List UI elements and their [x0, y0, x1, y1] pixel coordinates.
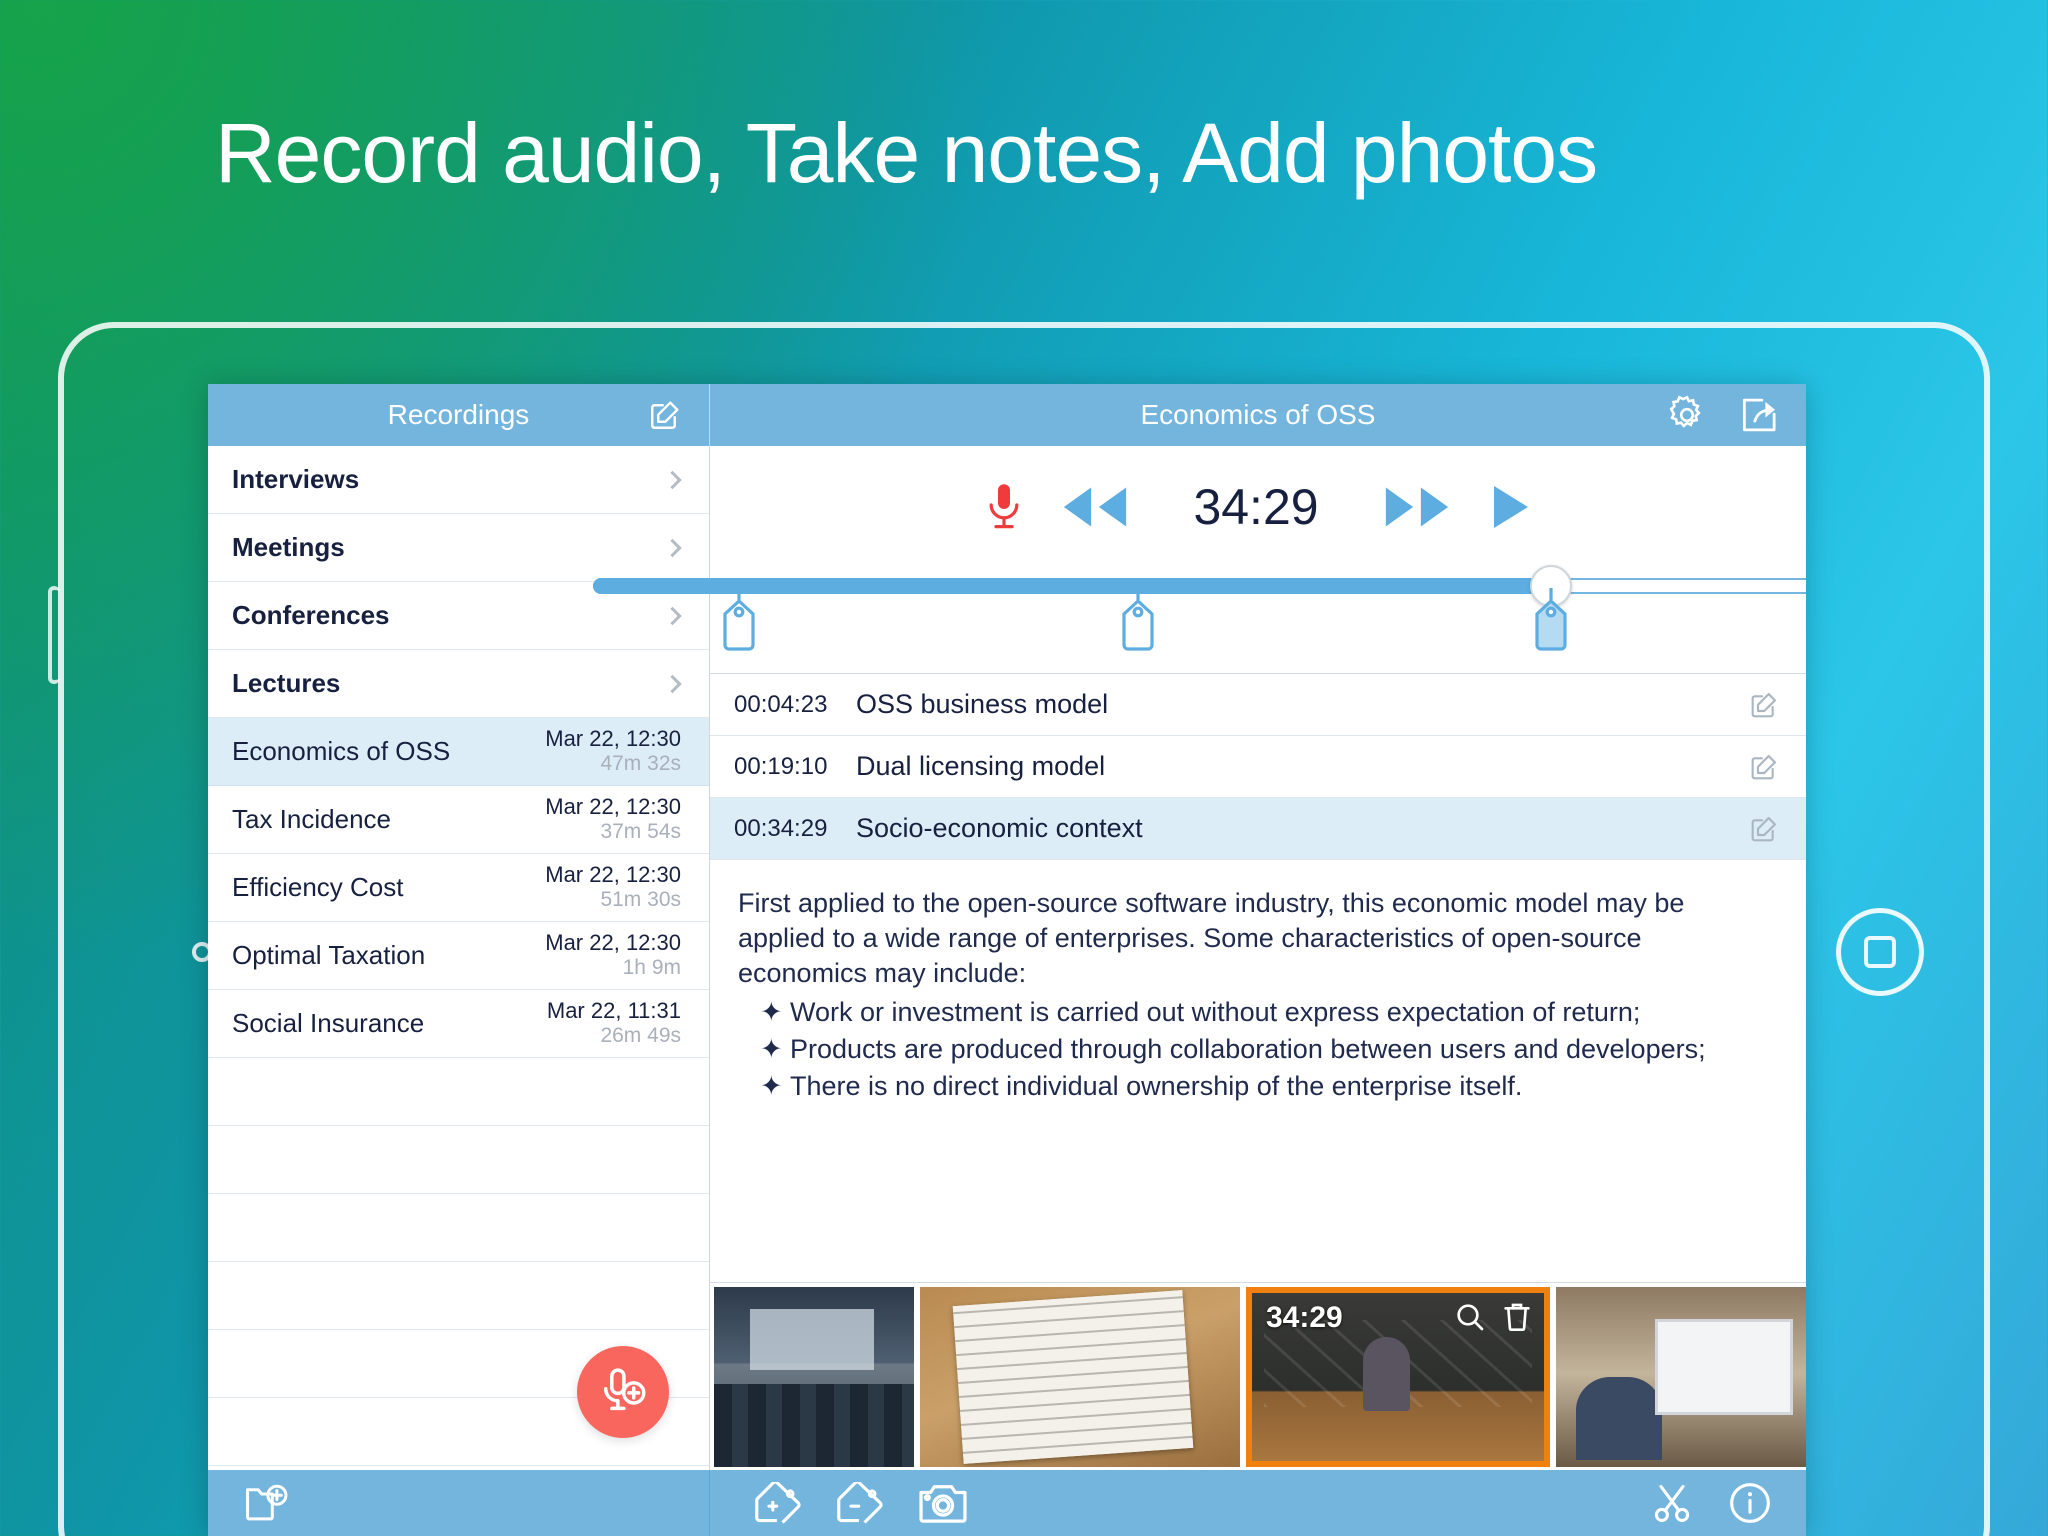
- photo-thumbnail-selected[interactable]: 34:29: [1246, 1287, 1550, 1467]
- bullet-star-icon: ✦: [760, 1069, 783, 1104]
- chevron-right-icon: [663, 470, 681, 488]
- rewind-icon[interactable]: [1060, 485, 1130, 529]
- play-icon[interactable]: [1488, 483, 1532, 531]
- recordings-title: Recordings: [388, 399, 530, 431]
- volume-button[interactable]: [48, 586, 60, 684]
- compose-edit-icon[interactable]: [647, 397, 683, 433]
- home-button[interactable]: [1836, 908, 1924, 996]
- photo-thumbnail[interactable]: [1556, 1287, 1806, 1467]
- bookmark-row-selected[interactable]: 00:34:29 Socio-economic context: [710, 798, 1806, 860]
- timeline-marker-active[interactable]: [1532, 588, 1570, 652]
- gear-icon[interactable]: [1666, 394, 1708, 436]
- note-bullet-text: Work or investment is carried out withou…: [790, 997, 1640, 1027]
- recordings-header: Recordings: [208, 384, 709, 446]
- note-bullet-text: There is no direct individual ownership …: [790, 1071, 1522, 1101]
- app-screen: Recordings Interviews Meetings: [208, 384, 1806, 1536]
- recording-duration: 1h 9m: [623, 956, 681, 979]
- note-paragraph: First applied to the open-source softwar…: [738, 886, 1778, 991]
- recording-meta: Mar 22, 12:30 37m 54s: [545, 795, 681, 843]
- bookmark-edit-icon[interactable]: [1748, 689, 1780, 721]
- bookmark-edit-icon[interactable]: [1748, 813, 1780, 845]
- new-recording-button[interactable]: [577, 1346, 669, 1438]
- share-export-icon[interactable]: [1738, 394, 1784, 436]
- folder-label: Lectures: [232, 668, 340, 699]
- bullet-star-icon: ✦: [760, 1032, 783, 1067]
- folder-label: Conferences: [232, 600, 390, 631]
- bookmark-row[interactable]: 00:19:10 Dual licensing model: [710, 736, 1806, 798]
- recording-name: Social Insurance: [232, 1008, 424, 1039]
- player-timecode: 34:29: [1166, 478, 1346, 536]
- note-bullet-item: ✦ There is no direct individual ownershi…: [790, 1069, 1778, 1104]
- microphone-record-icon[interactable]: [984, 481, 1024, 533]
- playback-timeline[interactable]: [593, 570, 1806, 673]
- recording-item[interactable]: Efficiency Cost Mar 22, 12:30 51m 30s: [208, 854, 709, 922]
- recording-date: Mar 22, 11:31: [547, 998, 681, 1023]
- note-bullet-list: ✦ Work or investment is carried out with…: [738, 995, 1778, 1104]
- note-bullet-item: ✦ Products are produced through collabor…: [790, 1032, 1778, 1067]
- recording-duration: 51m 30s: [600, 888, 681, 911]
- audio-player: 34:29: [710, 446, 1806, 674]
- chevron-right-icon: [663, 674, 681, 692]
- document-and-pen-photo: [920, 1287, 1240, 1467]
- recording-date: Mar 22, 12:30: [545, 726, 681, 751]
- right-toolbar: [710, 1470, 1806, 1536]
- detail-header-actions: [1666, 394, 1784, 436]
- magnifier-icon[interactable]: [1454, 1301, 1486, 1333]
- sidebar-item-interviews[interactable]: Interviews: [208, 446, 709, 514]
- recording-duration: 26m 49s: [600, 1024, 681, 1047]
- recordings-pane: Recordings Interviews Meetings: [208, 384, 710, 1470]
- tag-add-icon[interactable]: [754, 1482, 802, 1524]
- left-toolbar: [208, 1470, 710, 1536]
- timeline-marker[interactable]: [720, 588, 758, 652]
- recording-duration: 47m 32s: [600, 752, 681, 775]
- recording-item[interactable]: Optimal Taxation Mar 22, 12:30 1h 9m: [208, 922, 709, 990]
- home-square-icon: [1864, 936, 1896, 968]
- note-text-area[interactable]: First applied to the open-source softwar…: [710, 860, 1806, 1282]
- recording-name: Optimal Taxation: [232, 940, 425, 971]
- editing-tools-group: [754, 1482, 968, 1524]
- detail-header: Economics of OSS: [710, 384, 1806, 446]
- folder-label: Interviews: [232, 464, 359, 495]
- bookmark-time: 00:04:23: [734, 691, 840, 719]
- fast-forward-icon[interactable]: [1382, 485, 1452, 529]
- recording-date: Mar 22, 12:30: [545, 862, 681, 887]
- recording-date: Mar 22, 12:30: [545, 930, 681, 955]
- bullet-star-icon: ✦: [760, 995, 783, 1030]
- recording-item[interactable]: Economics of OSS Mar 22, 12:30 47m 32s: [208, 718, 709, 786]
- recording-meta: Mar 22, 12:30 51m 30s: [545, 863, 681, 911]
- bookmark-title: OSS business model: [856, 689, 1108, 720]
- bookmark-time: 00:19:10: [734, 753, 840, 781]
- folder-add-icon[interactable]: [244, 1483, 290, 1523]
- team-presentation-photo: [1556, 1287, 1806, 1467]
- recording-item[interactable]: Social Insurance Mar 22, 11:31 26m 49s: [208, 990, 709, 1058]
- recording-meta: Mar 22, 11:31 26m 49s: [547, 999, 681, 1047]
- microphone-add-icon: [595, 1364, 651, 1420]
- photo-timestamp: 34:29: [1266, 1301, 1343, 1335]
- photo-strip[interactable]: 34:29: [710, 1282, 1806, 1470]
- recording-meta: Mar 22, 12:30 47m 32s: [545, 727, 681, 775]
- chevron-right-icon: [663, 538, 681, 556]
- recording-name: Efficiency Cost: [232, 872, 403, 903]
- utility-tools-group: [1650, 1481, 1772, 1525]
- empty-list-row: [208, 1126, 709, 1194]
- bookmark-edit-icon[interactable]: [1748, 751, 1780, 783]
- photo-overlay-actions: [1454, 1301, 1532, 1333]
- recording-meta: Mar 22, 12:30 1h 9m: [545, 931, 681, 979]
- transport-controls: 34:29: [984, 478, 1532, 536]
- recording-duration: 37m 54s: [600, 820, 681, 843]
- note-bullet-item: ✦ Work or investment is carried out with…: [790, 995, 1778, 1030]
- note-bullet-text: Products are produced through collaborat…: [790, 1034, 1706, 1064]
- bookmark-title: Dual licensing model: [856, 751, 1105, 782]
- detail-pane: Economics of OSS: [710, 384, 1806, 1470]
- trash-icon[interactable]: [1502, 1301, 1532, 1333]
- timeline-marker[interactable]: [1119, 588, 1157, 652]
- empty-list-row: [208, 1058, 709, 1126]
- photo-thumbnail[interactable]: [714, 1287, 914, 1467]
- empty-list-row: [208, 1262, 709, 1330]
- detail-title: Economics of OSS: [1141, 399, 1376, 431]
- photo-thumbnail[interactable]: [920, 1287, 1240, 1467]
- recording-date: Mar 22, 12:30: [545, 794, 681, 819]
- empty-list-row: [208, 1194, 709, 1262]
- bookmark-time: 00:34:29: [734, 815, 840, 843]
- scissors-icon[interactable]: [1650, 1481, 1694, 1525]
- bookmarks-list[interactable]: 00:04:23 OSS business model 00:19:10 Dua…: [710, 674, 1806, 860]
- recording-name: Tax Incidence: [232, 804, 391, 835]
- lecture-hall-photo: [714, 1287, 914, 1467]
- bookmark-row[interactable]: 00:04:23 OSS business model: [710, 674, 1806, 736]
- recording-item[interactable]: Tax Incidence Mar 22, 12:30 37m 54s: [208, 786, 709, 854]
- recording-name: Economics of OSS: [232, 736, 450, 767]
- info-icon[interactable]: [1728, 1481, 1772, 1525]
- bookmark-title: Socio-economic context: [856, 813, 1143, 844]
- screen-body: Recordings Interviews Meetings: [208, 384, 1806, 1470]
- tag-remove-icon[interactable]: [836, 1482, 884, 1524]
- bottom-toolbar: [208, 1470, 1806, 1536]
- page-title: Record audio, Take notes, Add photos: [215, 105, 1597, 202]
- folder-label: Meetings: [232, 532, 345, 563]
- camera-icon[interactable]: [918, 1482, 968, 1524]
